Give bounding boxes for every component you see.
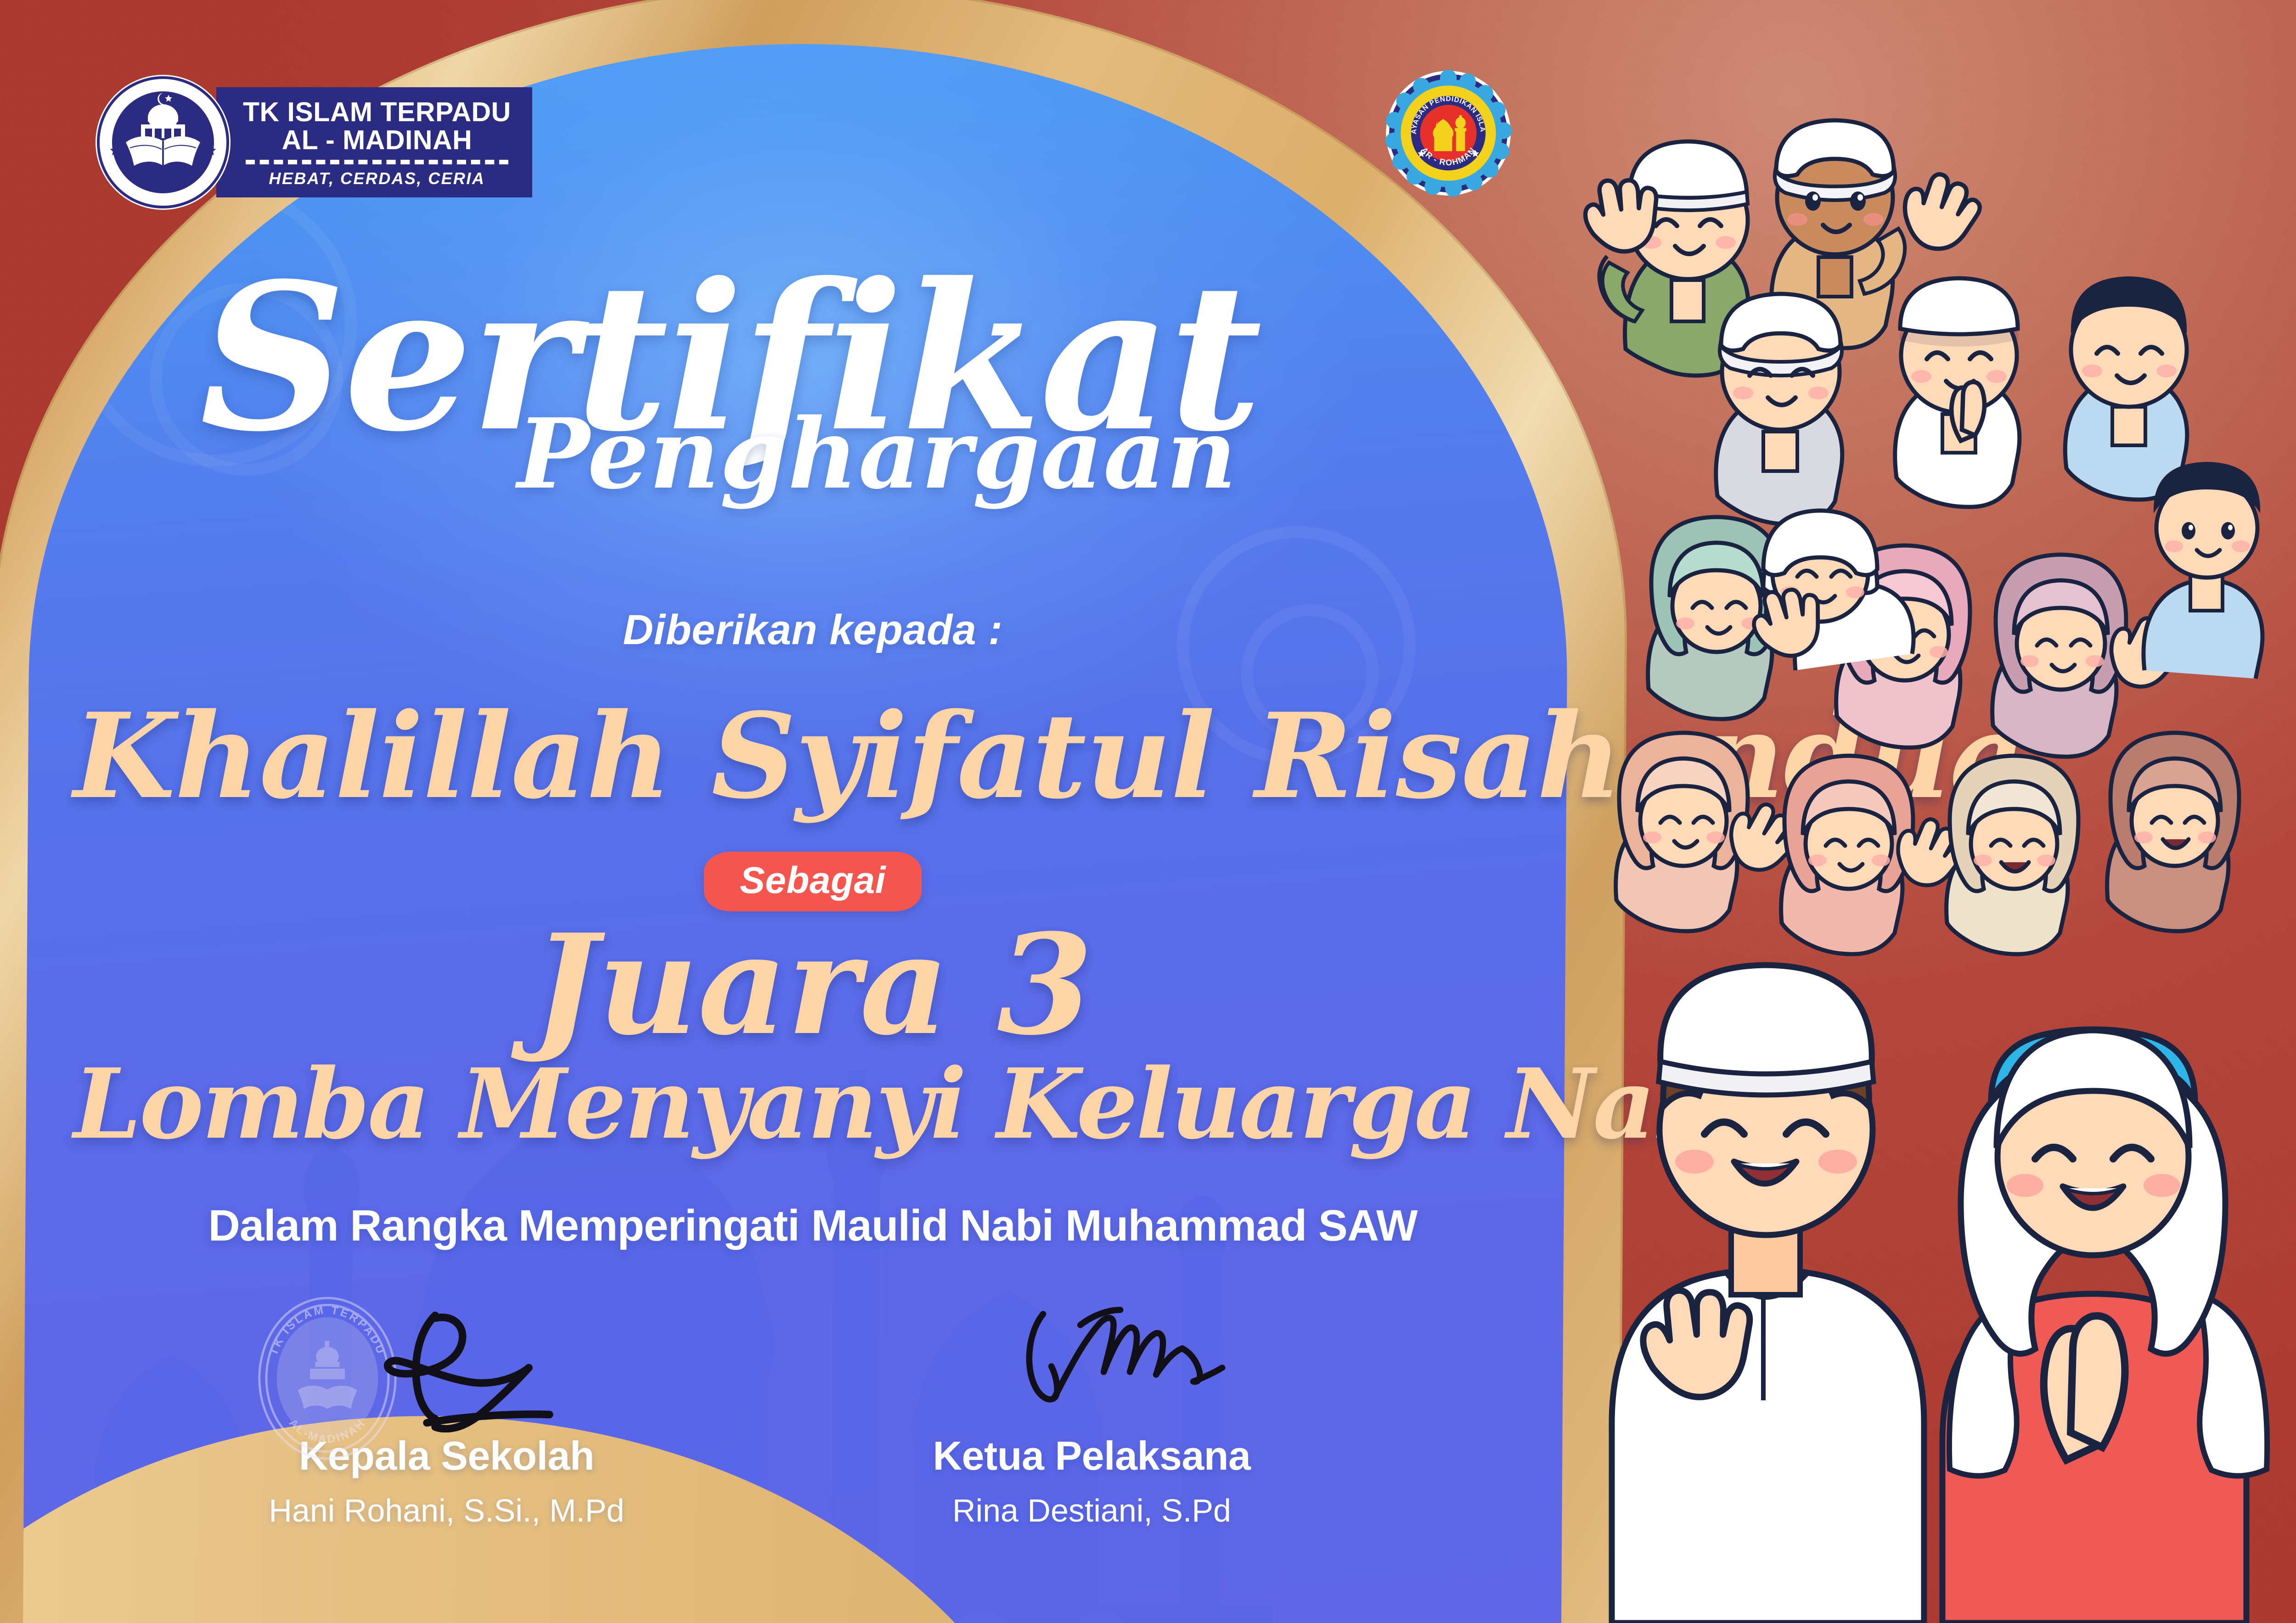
- signature-role: Ketua Pelaksana: [862, 1432, 1322, 1479]
- handwritten-signature-icon: [217, 1295, 676, 1432]
- as-label-wrap: Sebagai: [73, 852, 1552, 911]
- signature-person: Hani Rohani, S.Si., M.Pd: [217, 1492, 676, 1529]
- school-name-line2: AL - MADINAH: [243, 126, 511, 154]
- foundation-badge-icon: YAYASAN PENDIDIKAN ISLAM AR - ROHMAN: [1384, 69, 1513, 197]
- banner-divider: [246, 160, 508, 164]
- as-label-badge: Sebagai: [704, 852, 922, 911]
- school-tagline: HEBAT, CERDAS, CERIA: [243, 169, 511, 188]
- given-to-label: Diberikan kepada :: [73, 606, 1552, 654]
- school-name-banner: TK ISLAM TERPADU AL - MADINAH HEBAT, CER…: [216, 87, 532, 197]
- signature-person: Rina Destiani, S.Pd: [862, 1492, 1322, 1529]
- certificate-content: TK ISLAM TERPADU AL-MADINAH: [73, 55, 1552, 1579]
- handwritten-signature-icon: [862, 1295, 1322, 1432]
- certificate-canvas: TK ISLAM TERPADU AL-MADINAH: [0, 0, 2296, 1623]
- school-name-line1: TK ISLAM TERPADU: [243, 98, 511, 126]
- recipient-name: Khalillah Syifatul Risahondua: [73, 698, 1552, 815]
- award-event: Lomba Menyanyi Keluarga Nabi: [73, 1056, 1552, 1152]
- school-logo-lockup: TK ISLAM TERPADU AL-MADINAH: [94, 73, 532, 211]
- award-rank: Juara 3: [73, 916, 1552, 1054]
- signature-section: TK ISLAM TERPADU AL-MADINAH: [124, 1295, 1414, 1529]
- signature-block-kepala-sekolah: TK ISLAM TERPADU AL-MADINAH: [217, 1295, 676, 1529]
- mosque-book-seal-icon: TK ISLAM TERPADU AL-MADINAH: [94, 73, 232, 211]
- signature-role: Kepala Sekolah: [217, 1432, 676, 1479]
- signature-block-ketua-pelaksana: Ketua Pelaksana Rina Destiani, S.Pd: [862, 1295, 1322, 1529]
- award-occasion: Dalam Rangka Memperingati Maulid Nabi Mu…: [73, 1201, 1552, 1251]
- certificate-headline: Sertifikat Penghargaan: [73, 271, 1552, 497]
